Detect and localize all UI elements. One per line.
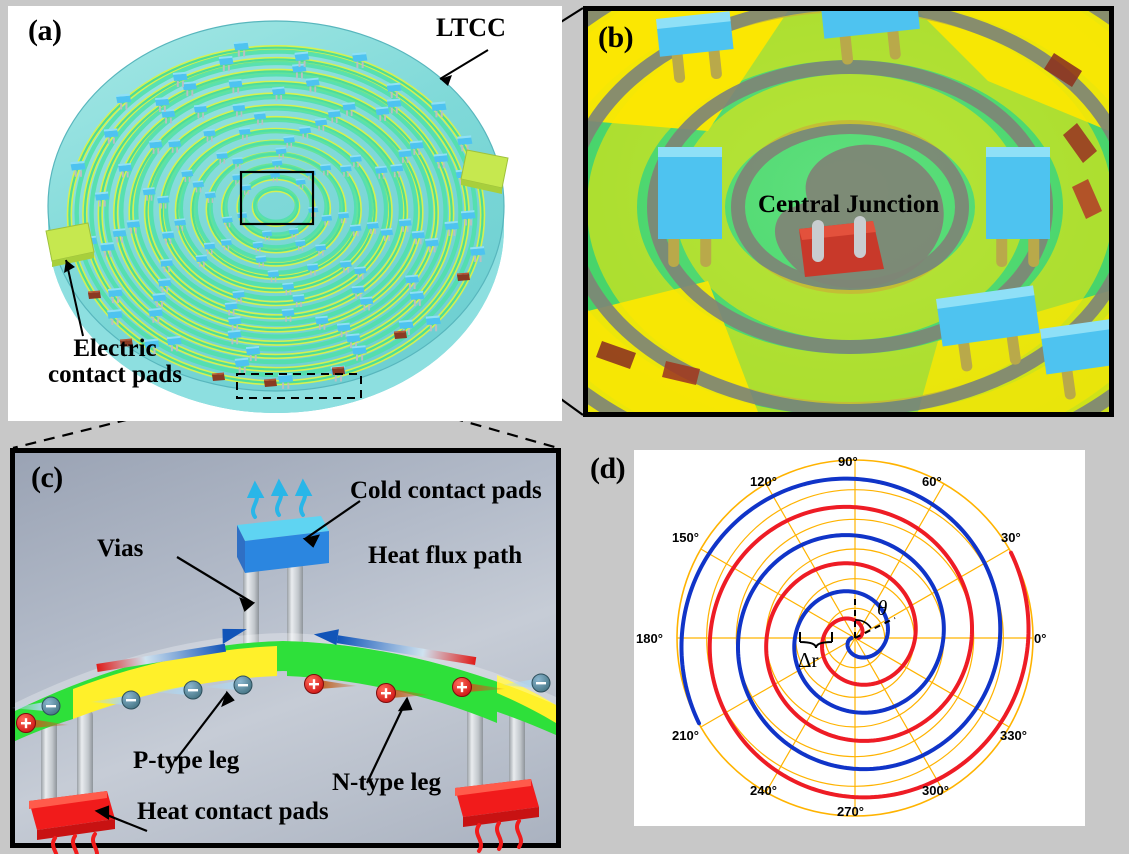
- cold-contact-pad: [237, 516, 329, 573]
- polar-tick-150: 150°: [672, 530, 699, 545]
- annotation-electric-contact-pads: Electric contact pads: [10, 336, 220, 389]
- figure-root: (a) LTCC Electric contact pads: [0, 0, 1129, 854]
- annotation-ltcc: LTCC: [436, 14, 506, 41]
- panel-c-label: (c): [31, 461, 63, 495]
- panel-c-graphic: [15, 453, 556, 843]
- panel-a-label: (a): [28, 14, 61, 48]
- heat-flow-squiggles-right: [477, 821, 521, 851]
- cold-flow-squiggles: [250, 483, 309, 517]
- panel-d-label: (d): [590, 452, 625, 486]
- polar-tick-300: 300°: [922, 783, 949, 798]
- polar-tick-330: 330°: [1000, 728, 1027, 743]
- annotation-electric-pads-line2: contact pads: [10, 362, 220, 388]
- polar-tick-60: 60°: [922, 474, 942, 489]
- panel-c: (c): [10, 448, 561, 848]
- polar-tick-240: 240°: [750, 783, 777, 798]
- polar-tick-210: 210°: [672, 728, 699, 743]
- annotation-p-type-leg: P-type leg: [133, 748, 239, 774]
- annotation-heat-flux-path: Heat flux path: [368, 543, 522, 569]
- annotation-electric-pads-line1: Electric: [10, 336, 220, 362]
- polar-tick-0: 0°: [1034, 631, 1046, 646]
- theta-label: θ: [877, 596, 887, 621]
- polar-tick-90: 90°: [838, 454, 858, 469]
- annotation-heat-contact-pads: Heat contact pads: [137, 799, 329, 825]
- polar-tick-30: 30°: [1001, 530, 1021, 545]
- annotation-central-junction: Central Junction: [758, 192, 939, 218]
- annotation-n-type-leg: N-type leg: [332, 770, 441, 796]
- panel-b-label: (b): [598, 21, 633, 55]
- polar-tick-120: 120°: [750, 474, 777, 489]
- polar-chart: [634, 450, 1085, 826]
- polar-tick-270: 270°: [837, 804, 864, 819]
- annotation-vias: Vias: [97, 536, 143, 562]
- delta-r-label: Δr: [798, 648, 819, 673]
- delta-r-indicator: [800, 632, 832, 648]
- annotation-cold-contact-pads: Cold contact pads: [350, 478, 542, 504]
- polar-tick-180: 180°: [636, 631, 663, 646]
- panel-d: 0° 30° 60° 90° 120° 150° 180° 210° 240° …: [634, 450, 1085, 826]
